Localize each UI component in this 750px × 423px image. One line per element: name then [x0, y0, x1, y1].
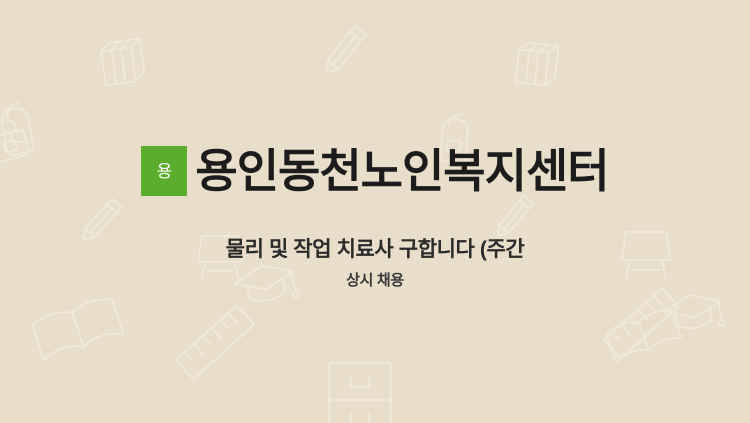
job-posting-card: 용 용인동천노인복지센터 물리 및 작업 치료사 구합니다 (주간 상시 채용 — [0, 0, 750, 423]
organization-name: 용인동천노인복지센터 — [195, 148, 608, 194]
organization-header: 용 용인동천노인복지센터 — [141, 141, 608, 201]
organization-logo-badge: 용 — [141, 146, 187, 196]
recruitment-status: 상시 채용 — [346, 272, 404, 290]
card-content: 용 용인동천노인복지센터 물리 및 작업 치료사 구합니다 (주간 상시 채용 — [0, 0, 750, 423]
job-posting-title: 물리 및 작업 치료사 구합니다 (주간 — [226, 237, 525, 262]
